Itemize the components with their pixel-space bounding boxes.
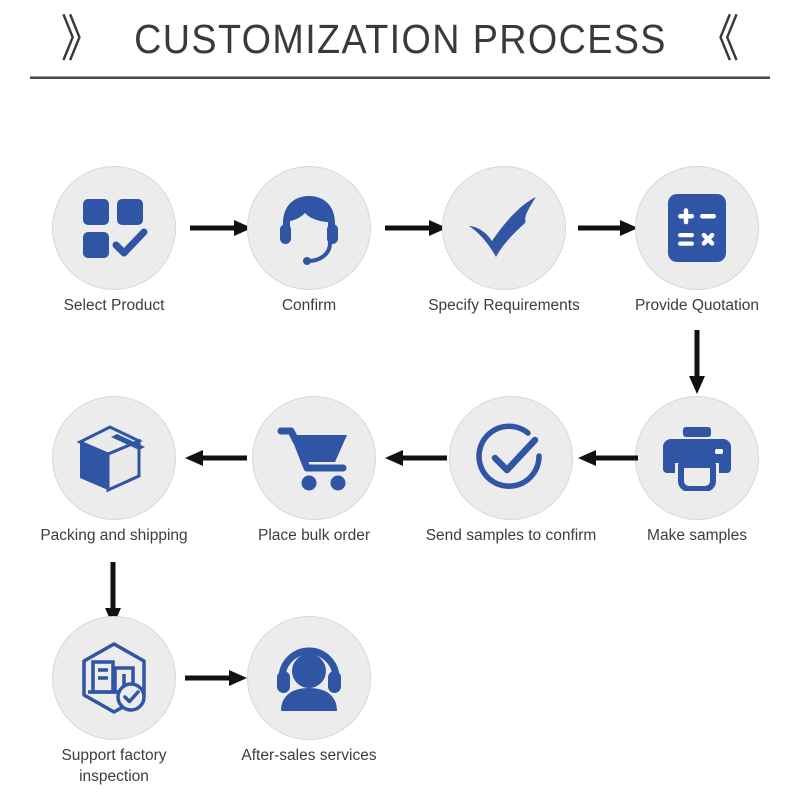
flow-step-specify-requirements[interactable]: Specify Requirements: [442, 166, 566, 290]
step-icon-circle: [52, 166, 176, 290]
step-label: Confirm: [213, 296, 405, 317]
connector-arrow-right: [578, 219, 638, 237]
flow-step-confirm[interactable]: Confirm: [247, 166, 371, 290]
connector-arrow-left: [578, 449, 638, 467]
title-row: 》 CUSTOMIZATION PROCESS 《: [0, 8, 800, 70]
checkmark-icon: [466, 193, 542, 263]
flow-step-after-sales-services[interactable]: After-sales services: [247, 616, 371, 740]
step-label: Packing and shipping: [18, 526, 210, 547]
calculator-icon: [666, 192, 728, 264]
title-divider: [30, 76, 770, 79]
step-icon-circle: [635, 396, 759, 520]
factory-shield-check-icon: [76, 640, 152, 716]
chevron-right-icon: 《: [697, 14, 740, 64]
flow-step-send-samples-to-confirm[interactable]: Send samples to confirm: [449, 396, 573, 520]
package-box-icon: [77, 422, 151, 494]
step-label: Make samples: [601, 526, 793, 547]
flow-step-place-bulk-order[interactable]: Place bulk order: [252, 396, 376, 520]
flow-step-support-factory-inspection[interactable]: Support factory inspection: [52, 616, 176, 740]
step-icon-circle: [52, 396, 176, 520]
step-icon-circle: [247, 616, 371, 740]
step-label: Support factory inspection: [18, 746, 210, 788]
shopping-cart-icon: [277, 424, 351, 492]
connector-arrow-left: [385, 449, 447, 467]
connector-arrow-right: [190, 219, 252, 237]
headset-agent-icon: [272, 191, 346, 265]
step-icon-circle: [449, 396, 573, 520]
step-label: Provide Quotation: [601, 296, 793, 317]
flow-step-provide-quotation[interactable]: Provide Quotation: [635, 166, 759, 290]
chevron-left-icon: 》: [60, 14, 103, 64]
grid-check-icon: [79, 193, 149, 263]
flow-step-make-samples[interactable]: Make samples: [635, 396, 759, 520]
step-icon-circle: [442, 166, 566, 290]
page-title: CUSTOMIZATION PROCESS: [134, 19, 667, 60]
step-icon-circle: [635, 166, 759, 290]
page-header: 》 CUSTOMIZATION PROCESS 《: [0, 0, 800, 95]
step-icon-circle: [247, 166, 371, 290]
step-label: Place bulk order: [218, 526, 410, 547]
step-icon-circle: [52, 616, 176, 740]
step-label: Specify Requirements: [408, 296, 600, 317]
customization-process-infographic: 》 CUSTOMIZATION PROCESS 《 Select Product: [0, 0, 800, 800]
support-person-icon: [273, 645, 345, 711]
step-label: Send samples to confirm: [415, 526, 607, 547]
connector-arrow-left: [185, 449, 247, 467]
flow-step-select-product[interactable]: Select Product: [52, 166, 176, 290]
flow-step-packing-and-shipping[interactable]: Packing and shipping: [52, 396, 176, 520]
connector-arrow-right: [185, 669, 247, 687]
printer-icon: [661, 425, 733, 491]
connector-arrow-down: [688, 330, 706, 394]
circle-check-icon: [474, 421, 548, 495]
step-label: After-sales services: [213, 746, 405, 767]
connector-arrow-right: [385, 219, 447, 237]
step-icon-circle: [252, 396, 376, 520]
step-label: Select Product: [18, 296, 210, 317]
